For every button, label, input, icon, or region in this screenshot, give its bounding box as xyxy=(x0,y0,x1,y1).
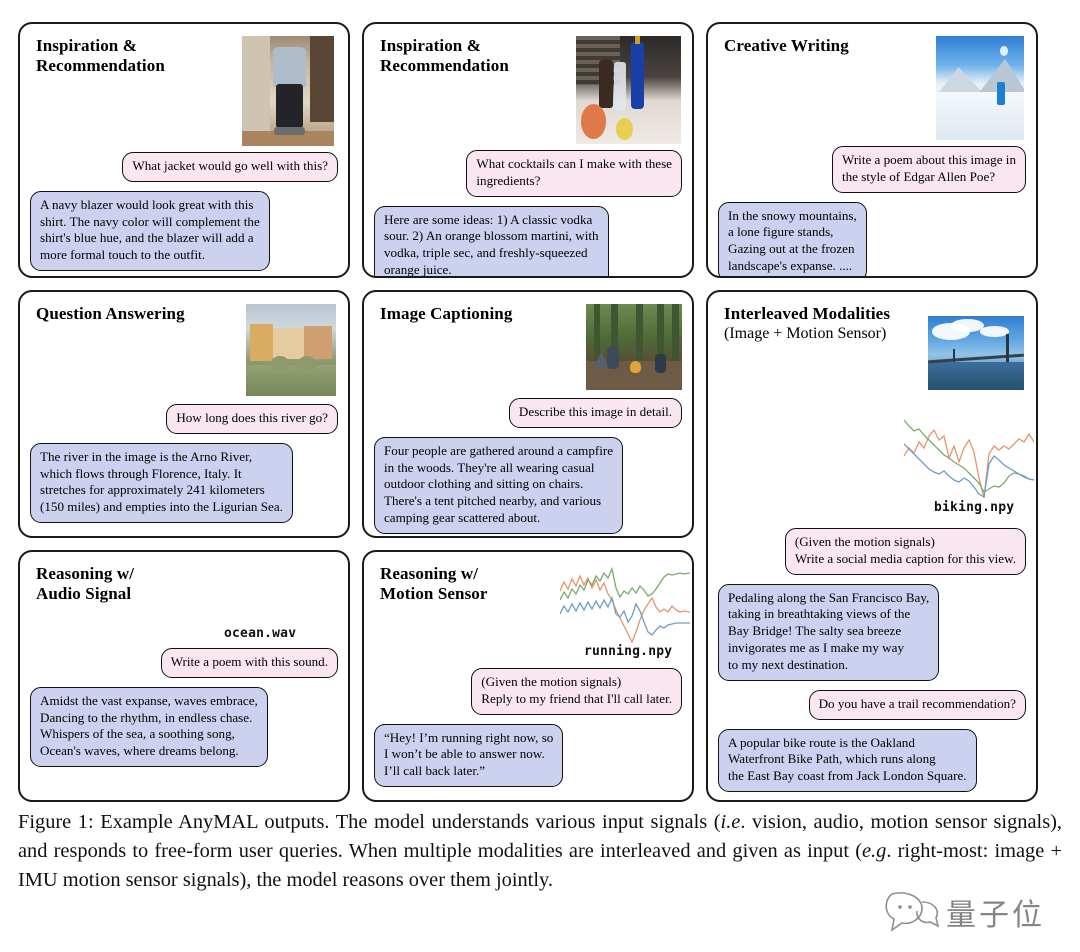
user-message-bubble: How long does this river go? xyxy=(166,404,338,434)
panel-title: Interleaved Modalities xyxy=(724,304,929,324)
user-message-bubble: Do you have a trail recommendation? xyxy=(809,690,1026,720)
figure-panels-grid: Inspiration & Recommendation What jacket… xyxy=(18,22,1038,802)
snowy-mountain-skier-thumbnail xyxy=(936,36,1024,140)
assistant-message-bubble: Amidst the vast expanse, waves embrace, … xyxy=(30,687,268,767)
assistant-message-bubble: Four people are gathered around a campfi… xyxy=(374,437,623,534)
cocktail-ingredients-thumbnail xyxy=(576,36,681,144)
conversation-thread: (Given the motion signals) Write a socia… xyxy=(708,528,1036,801)
panel-inspiration-cocktail: Inspiration & Recommendation What cockta… xyxy=(362,22,694,278)
conversation-thread: How long does this river go? The river i… xyxy=(20,404,348,532)
assistant-message-bubble: Pedaling along the San Francisco Bay, ta… xyxy=(718,584,939,681)
audio-waveform-plot-ocean xyxy=(192,572,314,624)
motion-signal-plot-biking xyxy=(904,418,1034,500)
user-message-bubble: Write a poem with this sound. xyxy=(161,648,338,678)
panel-inspiration-outfit: Inspiration & Recommendation What jacket… xyxy=(18,22,350,278)
panel-title: Inspiration & Recommendation xyxy=(36,36,241,76)
panel-title: Inspiration & Recommendation xyxy=(380,36,585,76)
assistant-message-bubble: “Hey! I’m running right now, so I won’t … xyxy=(374,724,563,787)
motion-signal-svg xyxy=(560,566,690,644)
user-message-bubble: What cocktails can I make with these ing… xyxy=(466,150,682,197)
panel-title: Question Answering xyxy=(36,304,241,324)
panel-reasoning-audio: Reasoning w/ Audio Signal xyxy=(18,550,350,802)
conversation-thread: Write a poem about this image in the sty… xyxy=(708,146,1036,278)
signal-file-label-biking: biking.npy xyxy=(934,500,1014,515)
ponte-vecchio-river-thumbnail xyxy=(246,304,336,396)
user-message-bubble: What jacket would go well with this? xyxy=(122,152,338,182)
bay-bridge-thumbnail xyxy=(928,316,1024,390)
conversation-thread: (Given the motion signals) Reply to my f… xyxy=(364,668,692,796)
panel-question-answering: Question Answering How long does this ri… xyxy=(18,290,350,538)
user-message-bubble: Write a poem about this image in the sty… xyxy=(832,146,1026,193)
caption-figure-label: Figure 1: xyxy=(18,811,94,833)
caption-italic-ie: i.e xyxy=(721,811,741,833)
signal-file-label-running: running.npy xyxy=(584,644,672,659)
caption-italic-eg: e.g xyxy=(862,840,886,862)
assistant-message-bubble: The river in the image is the Arno River… xyxy=(30,443,293,523)
watermark-text: 量子位 xyxy=(946,890,1045,934)
user-message-bubble: (Given the motion signals) Reply to my f… xyxy=(471,668,682,715)
conversation-thread: Describe this image in detail. Four peop… xyxy=(364,398,692,538)
campfire-in-woods-thumbnail xyxy=(586,304,682,390)
assistant-message-bubble: A navy blazer would look great with this… xyxy=(30,191,270,271)
assistant-message-bubble: In the snowy mountains, a lone figure st… xyxy=(718,202,867,278)
panel-title: Creative Writing xyxy=(724,36,929,56)
wechat-bubble-icon xyxy=(882,888,944,936)
assistant-message-bubble: A popular bike route is the Oakland Wate… xyxy=(718,729,977,792)
motion-signal-plot-running xyxy=(560,566,690,644)
motion-signal-svg xyxy=(904,418,1034,500)
conversation-thread: Write a poem with this sound. Amidst the… xyxy=(20,648,348,776)
signal-line-green xyxy=(560,569,690,600)
signal-file-label-ocean: ocean.wav xyxy=(224,626,296,641)
user-message-bubble: (Given the motion signals) Write a socia… xyxy=(785,528,1026,575)
caption-part-1: Example AnyMAL outputs. The model unders… xyxy=(94,811,721,833)
panel-creative-writing: Creative Writing Write a poem about this… xyxy=(706,22,1038,278)
panel-interleaved-modalities: Interleaved Modalities (Image + Motion S… xyxy=(706,290,1038,802)
audio-waveform-svg xyxy=(192,572,314,624)
signal-line-blue xyxy=(904,444,1034,497)
panel-title: Reasoning w/ Motion Sensor xyxy=(380,564,585,604)
user-message-bubble: Describe this image in detail. xyxy=(509,398,682,428)
panel-reasoning-motion: Reasoning w/ Motion Sensor running.npy (… xyxy=(362,550,694,802)
panel-image-captioning: Image Captioning Describe this image in … xyxy=(362,290,694,538)
conversation-thread: What jacket would go well with this? A n… xyxy=(20,152,348,278)
waveform-bars xyxy=(194,573,311,623)
conversation-thread: What cocktails can I make with these ing… xyxy=(364,150,692,278)
figure-caption: Figure 1: Example AnyMAL outputs. The mo… xyxy=(18,808,1062,895)
outfit-mirror-selfie-thumbnail xyxy=(242,36,334,146)
assistant-message-bubble: Here are some ideas: 1) A classic vodka … xyxy=(374,206,609,278)
panel-title: Image Captioning xyxy=(380,304,585,324)
